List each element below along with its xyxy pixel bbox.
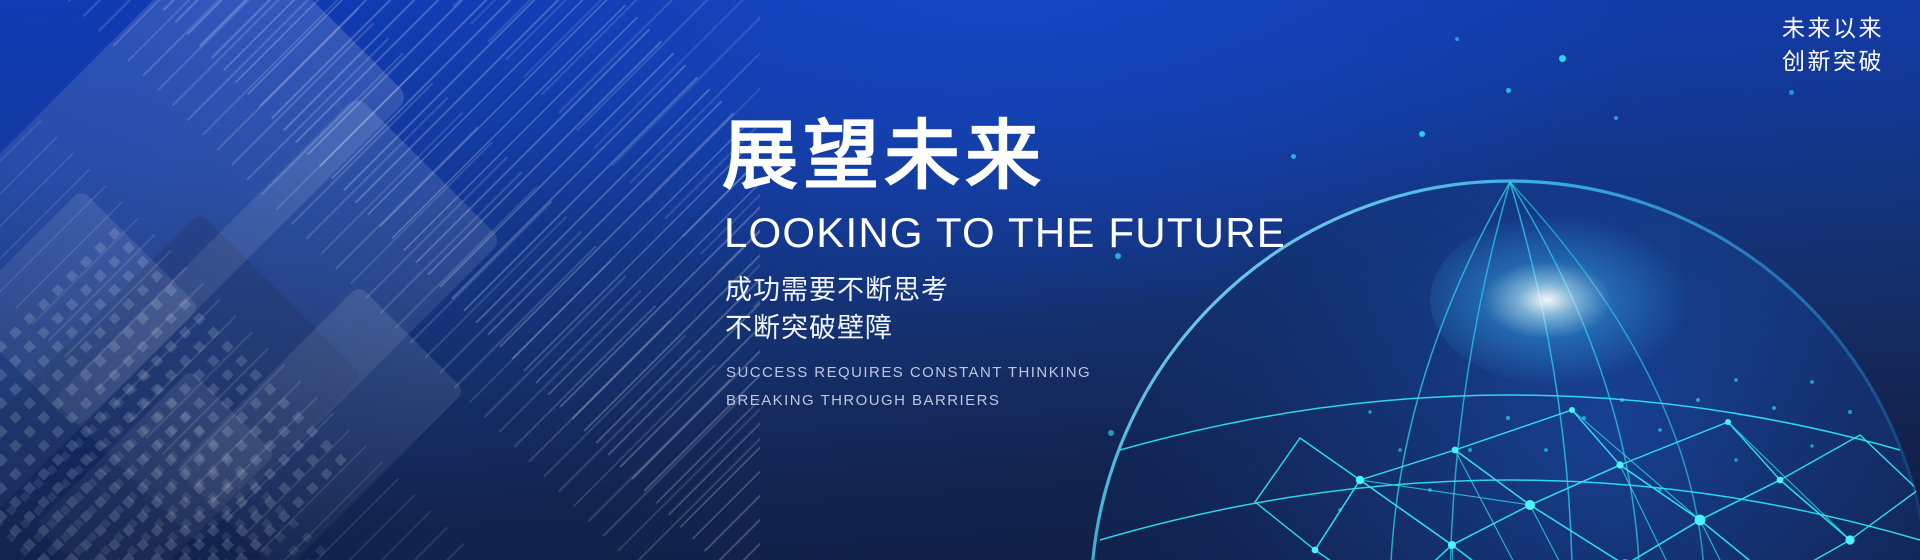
headline-chinese: 展望未来 bbox=[722, 118, 1282, 196]
particle-dot bbox=[1559, 55, 1566, 62]
main-text-block: 展望未来 LOOKING TO THE FUTURE 成功需要不断思考 不断突破… bbox=[722, 118, 1282, 414]
decorative-rectangle-5 bbox=[35, 370, 275, 560]
subtitle-chinese-line-2: 不断突破壁障 bbox=[725, 310, 1282, 347]
particle-dot bbox=[1291, 154, 1296, 159]
subtitle-english-line-1: SUCCESS REQUIRES CONSTANT THINKING bbox=[726, 359, 1282, 387]
diagonal-line-group-1 bbox=[67, 0, 760, 560]
decorative-rectangle-shadow bbox=[0, 213, 362, 560]
globe-horizon-glow bbox=[1430, 215, 1690, 385]
diagonal-line-group-3 bbox=[293, 0, 760, 455]
corner-slogan-line-1: 未来以来 bbox=[1782, 12, 1884, 45]
abstract-geometric-shapes bbox=[0, 0, 760, 560]
diamond-dot-field-1 bbox=[0, 227, 348, 560]
particle-dot bbox=[1506, 88, 1511, 93]
decorative-rectangle-4 bbox=[175, 285, 465, 560]
particle-dot bbox=[1108, 430, 1114, 436]
particle-dot bbox=[1789, 90, 1794, 95]
promo-banner: 未来以来 创新突破 展望未来 LOOKING TO THE FUTURE 成功需… bbox=[0, 0, 1920, 560]
diamond-dot-field-2 bbox=[0, 370, 330, 560]
decorative-rectangle-2 bbox=[53, 95, 502, 544]
particle-dot bbox=[1614, 116, 1618, 120]
headline-english: LOOKING TO THE FUTURE bbox=[724, 210, 1282, 256]
corner-slogan: 未来以来 创新突破 bbox=[1782, 12, 1884, 77]
particle-dot bbox=[1455, 37, 1459, 41]
subtitle-english: SUCCESS REQUIRES CONSTANT THINKING BREAK… bbox=[726, 359, 1282, 415]
diagonal-line-group-4 bbox=[0, 120, 478, 560]
corner-slogan-line-2: 创新突破 bbox=[1782, 45, 1884, 78]
subtitle-english-line-2: BREAKING THROUGH BARRIERS bbox=[726, 387, 1282, 415]
subtitle-chinese-line-1: 成功需要不断思考 bbox=[725, 272, 1282, 309]
decorative-rectangle-3 bbox=[0, 189, 200, 541]
decorative-rectangle-1 bbox=[0, 0, 410, 430]
subtitle-chinese: 成功需要不断思考 不断突破壁障 bbox=[725, 272, 1282, 347]
diagonal-line-group-2 bbox=[9, 0, 760, 560]
particle-dot bbox=[1419, 131, 1425, 137]
